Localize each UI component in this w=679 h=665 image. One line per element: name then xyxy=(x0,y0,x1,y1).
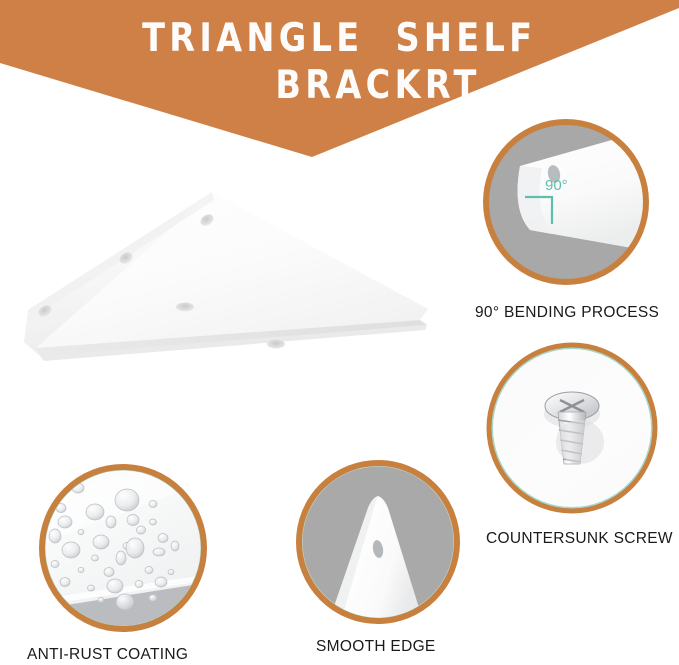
feature-anti-rust-coating: ANTI-RUST COATING xyxy=(27,460,257,664)
feature-label-coating: ANTI-RUST COATING xyxy=(27,646,257,664)
feature-label-smooth: SMOOTH EDGE xyxy=(288,638,488,656)
coating-circle-image xyxy=(35,460,211,636)
screw-shadow xyxy=(556,420,604,464)
title-line-1: TRIANGLE SHELF xyxy=(142,18,536,59)
smooth-circle-image xyxy=(292,456,464,628)
feature-smooth-edge: SMOOTH EDGE xyxy=(288,456,488,656)
face-hole-2 xyxy=(267,340,285,349)
face-hole-1 xyxy=(176,303,194,312)
feature-90-bending: 90° 90° BENDING PROCESS xyxy=(474,114,679,322)
feature-label-bending: 90° BENDING PROCESS xyxy=(474,304,679,322)
title-line-2: BRACKRT xyxy=(198,65,481,106)
bending-circle-image: 90° xyxy=(478,114,654,290)
feature-label-screw: COUNTERSUNK SCREW xyxy=(474,530,679,548)
screw-circle-image xyxy=(482,338,662,518)
hero-product-image xyxy=(0,170,460,430)
angle-marker-label: 90° xyxy=(545,177,568,194)
product-infographic: TRIANGLE SHELF BRACKRT xyxy=(0,0,679,665)
feature-countersunk-screw: COUNTERSUNK SCREW xyxy=(474,338,679,548)
